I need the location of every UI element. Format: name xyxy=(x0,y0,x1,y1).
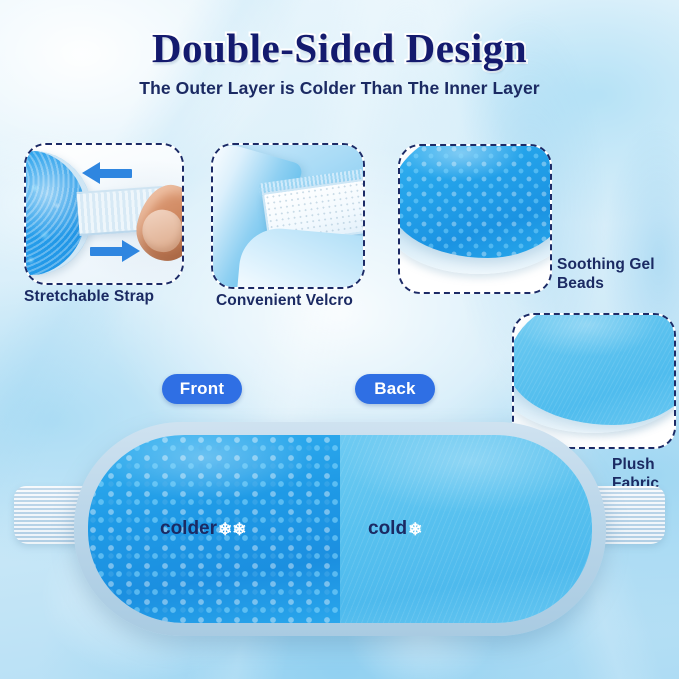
stretchable-strap-photo xyxy=(26,145,182,283)
snowflake-icon-single: ❄ xyxy=(408,521,422,538)
badge-back[interactable]: Back xyxy=(355,374,435,404)
feature-card-convenient-velcro xyxy=(211,143,365,289)
temp-label-cold-text: cold xyxy=(368,518,407,540)
product-eye-mask: colder ❄❄ cold ❄ xyxy=(0,414,679,664)
infographic-page: Double-Sided Design The Outer Layer is C… xyxy=(0,0,679,679)
temp-label-cold: cold ❄ xyxy=(368,518,422,540)
page-title: Double-Sided Design xyxy=(0,24,679,72)
feature-card-stretchable-strap xyxy=(24,143,184,285)
eye-mask-body xyxy=(74,422,606,636)
feature-card-soothing-gel-beads xyxy=(398,144,552,294)
feature-label-stretchable-strap: Stretchable Strap xyxy=(24,288,204,307)
badge-front[interactable]: Front xyxy=(162,374,242,404)
feature-label-line-1: Soothing Gel xyxy=(557,256,677,275)
temp-label-colder-text: colder xyxy=(160,518,217,540)
strap-lower-cloth-shape xyxy=(236,225,365,289)
page-subtitle: The Outer Layer is Colder Than The Inner… xyxy=(0,78,679,99)
feature-label-convenient-velcro: Convenient Velcro xyxy=(216,292,396,311)
feature-label-soothing-gel-beads: Soothing Gel Beads xyxy=(557,256,677,294)
temp-label-colder: colder ❄❄ xyxy=(160,518,247,540)
feature-label-line-2: Beads xyxy=(557,275,677,294)
gel-bead-surface-shape xyxy=(398,144,552,258)
convenient-velcro-photo xyxy=(213,145,363,287)
snowflake-icon-double: ❄❄ xyxy=(218,521,247,538)
gel-beads-photo xyxy=(400,146,550,292)
